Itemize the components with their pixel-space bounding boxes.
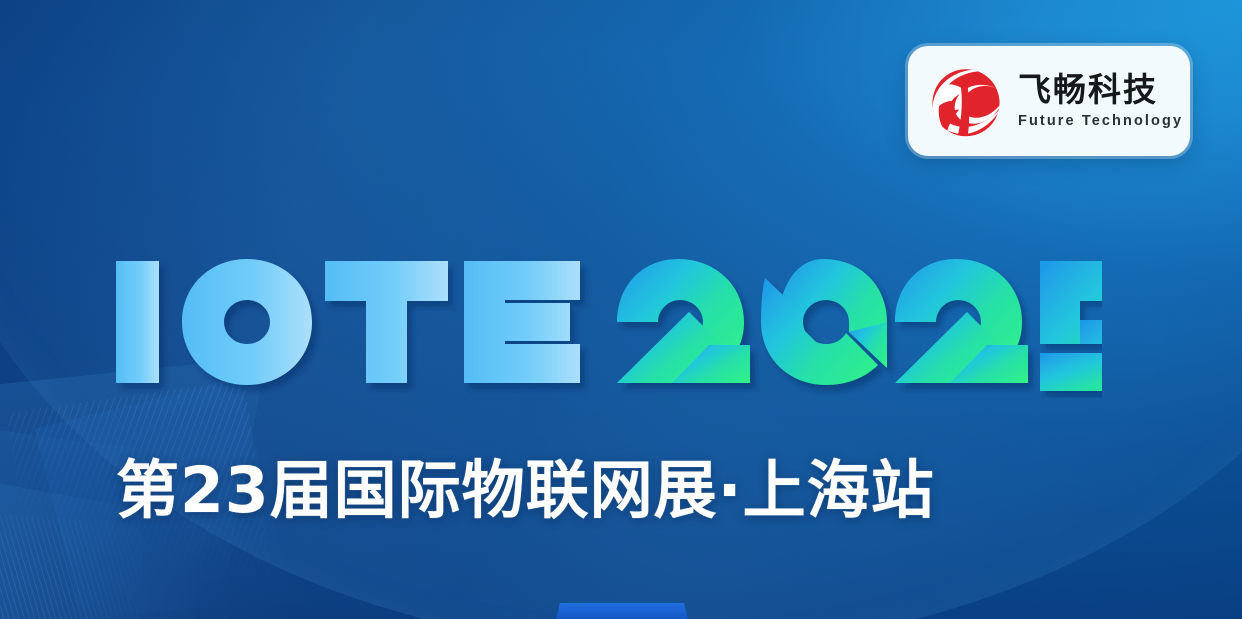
- company-logo-badge[interactable]: 飞畅科技 Future Technology: [908, 46, 1190, 156]
- feichang-flame-globe-mark-icon: [924, 59, 1008, 143]
- event-subtitle: 第23届国际物联网展·上海站: [116, 458, 935, 524]
- event-wordmark: [112, 248, 1102, 398]
- bottom-center-chip: [556, 603, 688, 619]
- iote-2025-wordmark-icon: [112, 248, 1102, 398]
- year-digits: [617, 259, 1102, 391]
- company-name-cn: 飞畅科技: [1018, 73, 1183, 106]
- company-name-en: Future Technology: [1018, 114, 1183, 129]
- hatch-stripes-lower: [0, 513, 184, 619]
- company-logo-text: 飞畅科技 Future Technology: [1018, 73, 1183, 129]
- iote-2025-event-banner: 飞畅科技 Future Technology: [0, 0, 1242, 619]
- wave-line-2: [0, 180, 1242, 619]
- iote-letters: [116, 259, 580, 385]
